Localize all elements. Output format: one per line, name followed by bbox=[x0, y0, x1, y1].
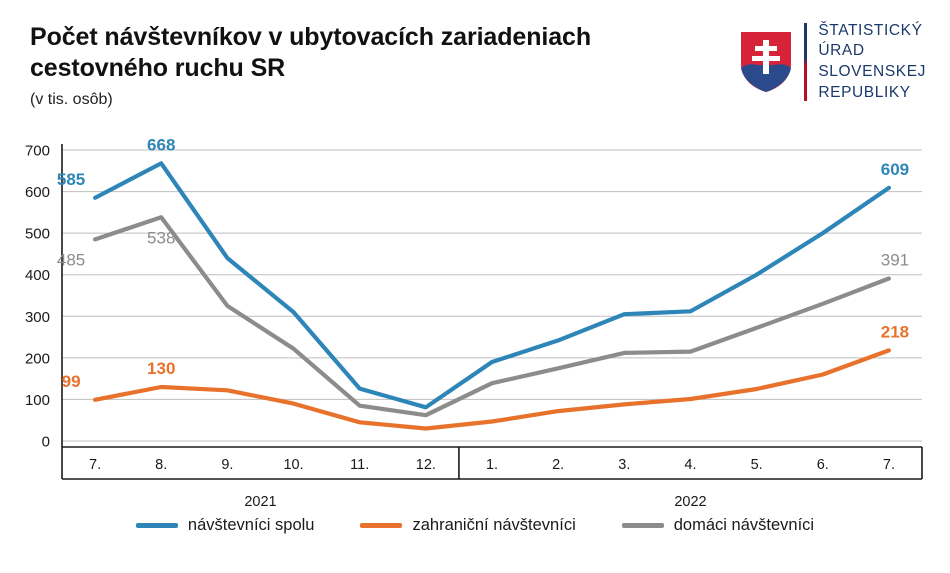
x-axis-tick-label: 3. bbox=[618, 457, 630, 473]
legend-item-label: zahraniční návštevníci bbox=[412, 516, 575, 535]
logo-line-1: ŠTATISTICKÝ bbox=[818, 21, 926, 42]
y-axis-tick-label: 300 bbox=[25, 309, 50, 326]
x-axis-tick-label: 11. bbox=[350, 457, 369, 473]
data-point-label: 668 bbox=[147, 135, 175, 154]
data-series-group bbox=[95, 163, 889, 428]
axis-frame bbox=[62, 144, 922, 479]
title-block: Počet návštevníkov v ubytovacích zariade… bbox=[30, 22, 720, 109]
legend-color-swatch bbox=[360, 523, 402, 528]
x-axis-year-labels: 20212022 bbox=[244, 494, 706, 510]
legend-item-label: domáci návštevníci bbox=[674, 516, 814, 535]
x-axis-tick-labels: 7.8.9.10.11.12.1.2.3.4.5.6.7. bbox=[89, 457, 895, 473]
x-axis-tick-label: 2. bbox=[552, 457, 564, 473]
line-chart-svg: 0100200300400500600700 7.8.9.10.11.12.1.… bbox=[0, 122, 950, 573]
slovak-coat-of-arms-icon bbox=[739, 30, 793, 94]
x-axis-tick-label: 12. bbox=[416, 457, 436, 473]
data-point-label: 538 bbox=[147, 228, 175, 247]
data-point-label: 485 bbox=[57, 250, 85, 269]
statistical-office-logo: ŠTATISTICKÝ ÚRAD SLOVENSKEJ REPUBLIKY bbox=[739, 18, 926, 106]
y-axis-tick-label: 200 bbox=[25, 350, 50, 367]
x-axis-tick-label: 7. bbox=[89, 457, 101, 473]
legend-color-swatch bbox=[136, 523, 178, 528]
x-axis-tick-label: 1. bbox=[486, 457, 498, 473]
chart-header: Počet návštevníkov v ubytovacích zariade… bbox=[0, 0, 950, 122]
legend-item-3[interactable]: domáci návštevníci bbox=[622, 516, 814, 535]
logo-line-2: ÚRAD bbox=[818, 41, 926, 62]
logo-wordmark: ŠTATISTICKÝ ÚRAD SLOVENSKEJ REPUBLIKY bbox=[818, 21, 926, 103]
legend-item-label: návštevníci spolu bbox=[188, 516, 315, 535]
data-point-label: 609 bbox=[881, 160, 909, 179]
y-axis-tick-label: 500 bbox=[25, 226, 50, 243]
x-axis-tick-label: 10. bbox=[283, 457, 303, 473]
chart-legend: návštevníci spoluzahraniční návštevnícid… bbox=[0, 516, 950, 535]
legend-color-swatch bbox=[622, 523, 664, 528]
y-axis-tick-label: 0 bbox=[42, 434, 50, 451]
logo-divider bbox=[804, 23, 807, 101]
logo-line-4: REPUBLIKY bbox=[818, 83, 926, 104]
legend-item-2[interactable]: zahraniční návštevníci bbox=[360, 516, 575, 535]
x-axis-year-label: 2022 bbox=[674, 494, 706, 510]
y-axis-tick-label: 600 bbox=[25, 184, 50, 201]
chart-plot-area: 0100200300400500600700 7.8.9.10.11.12.1.… bbox=[0, 122, 950, 573]
y-axis-tick-labels: 0100200300400500600700 bbox=[25, 143, 50, 451]
chart-units-subtitle: (v tis. osôb) bbox=[30, 91, 720, 109]
legend-item-1[interactable]: návštevníci spolu bbox=[136, 516, 315, 535]
x-axis-tick-label: 8. bbox=[155, 457, 167, 473]
y-axis-tick-label: 700 bbox=[25, 143, 50, 160]
x-axis-year-label: 2021 bbox=[244, 494, 276, 510]
y-axis-tick-label: 100 bbox=[25, 392, 50, 409]
x-axis-tick-label: 6. bbox=[817, 457, 829, 473]
data-point-label: 218 bbox=[881, 322, 909, 341]
page-title: Počet návštevníkov v ubytovacích zariade… bbox=[30, 22, 720, 84]
data-point-label: 585 bbox=[57, 170, 85, 189]
x-axis-tick-label: 9. bbox=[221, 457, 233, 473]
data-point-labels: 58566860999130218485538391 bbox=[57, 135, 909, 391]
x-axis-tick-label: 5. bbox=[751, 457, 763, 473]
grid-lines bbox=[62, 150, 922, 441]
x-axis-tick-label: 4. bbox=[684, 457, 696, 473]
data-point-label: 130 bbox=[147, 359, 175, 378]
x-axis-tick-label: 7. bbox=[883, 457, 895, 473]
y-axis-tick-label: 400 bbox=[25, 267, 50, 284]
data-point-label: 99 bbox=[62, 372, 81, 391]
data-point-label: 391 bbox=[881, 250, 909, 269]
logo-line-3: SLOVENSKEJ bbox=[818, 62, 926, 83]
